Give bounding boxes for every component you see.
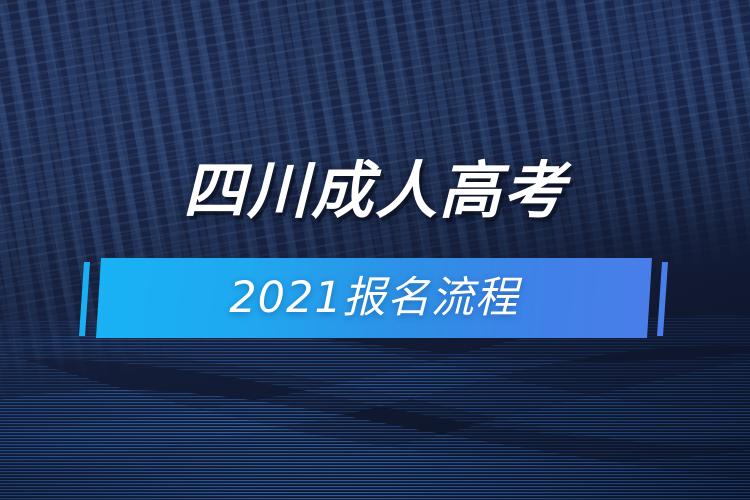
poster-root: 四川成人高考 2021报名流程 <box>0 0 750 500</box>
title-block: 四川成人高考 <box>0 160 750 222</box>
left-accent-bar-icon <box>79 262 90 336</box>
subtitle-banner: 2021报名流程 <box>0 256 750 342</box>
banner-text-wrap: 2021报名流程 <box>96 258 652 338</box>
page-subtitle: 2021报名流程 <box>229 277 518 320</box>
right-accent-bar-icon <box>657 262 668 336</box>
page-title: 四川成人高考 <box>183 160 567 222</box>
